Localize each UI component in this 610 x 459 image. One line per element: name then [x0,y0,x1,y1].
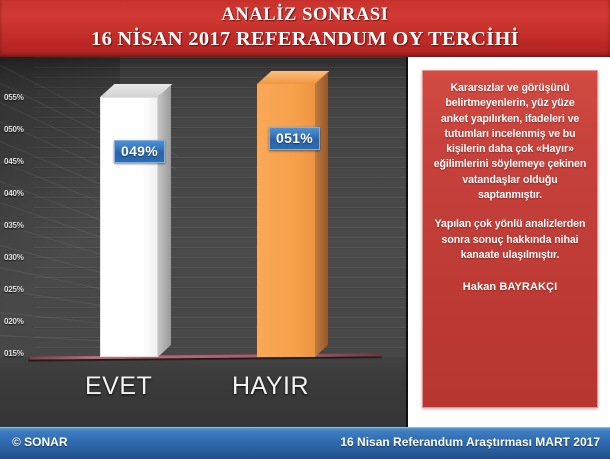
y-tick-label: 050% [4,125,40,134]
commentary-paragraph-1: Kararsızlar ve görüşünü belirtmeyenlerin… [432,81,588,203]
chart-gridlines [34,57,406,357]
value-badge-evet: 049% [114,140,165,163]
header-title-line2: 16 NİSAN 2017 REFERANDUM OY TERCİHİ [0,27,610,52]
bar-evet-side [158,85,171,357]
commentary-paragraph-2: Yapılan çok yönlü analizlerden sonra son… [432,217,588,263]
bar-hayir-front [257,84,315,357]
y-axis: 055% 050% 045% 040% 035% 030% 025% 020% … [4,57,40,357]
y-tick-label: 055% [4,93,40,102]
footer-survey-info: 16 Nisan Referandum Araştırması MART 201… [340,435,600,449]
poster-header: ANALİZ SONRASI 16 NİSAN 2017 REFERANDUM … [0,0,610,57]
bar-hayir[interactable] [257,84,315,357]
header-title-line1: ANALİZ SONRASI [0,3,610,27]
bar-evet[interactable] [100,97,158,357]
y-tick-label: 035% [4,221,40,230]
y-tick-label: 045% [4,157,40,166]
chart-panel: 055% 050% 045% 040% 035% 030% 025% 020% … [0,57,406,427]
y-tick-label: 030% [4,253,40,262]
bar-hayir-side [315,72,328,357]
y-tick-label: 020% [4,317,40,326]
y-tick-label: 040% [4,189,40,198]
commentary-signature: Hakan BAYRAKÇI [432,281,588,293]
category-label-evet: EVET [85,372,152,401]
bar-evet-front [100,97,158,357]
footer-copyright: © SONAR [12,435,68,449]
commentary-panel: Kararsızlar ve görüşünü belirtmeyenlerin… [406,57,610,427]
chart-floor [0,357,406,427]
commentary-box: Kararsızlar ve görüşünü belirtmeyenlerin… [422,70,598,408]
poster-footer: © SONAR 16 Nisan Referandum Araştırması … [0,427,610,459]
y-tick-label: 025% [4,285,40,294]
poster-root: ANALİZ SONRASI 16 NİSAN 2017 REFERANDUM … [0,0,610,459]
value-badge-hayir: 051% [269,127,320,150]
category-label-hayir: HAYIR [232,372,309,401]
y-tick-label: 015% [4,349,40,358]
